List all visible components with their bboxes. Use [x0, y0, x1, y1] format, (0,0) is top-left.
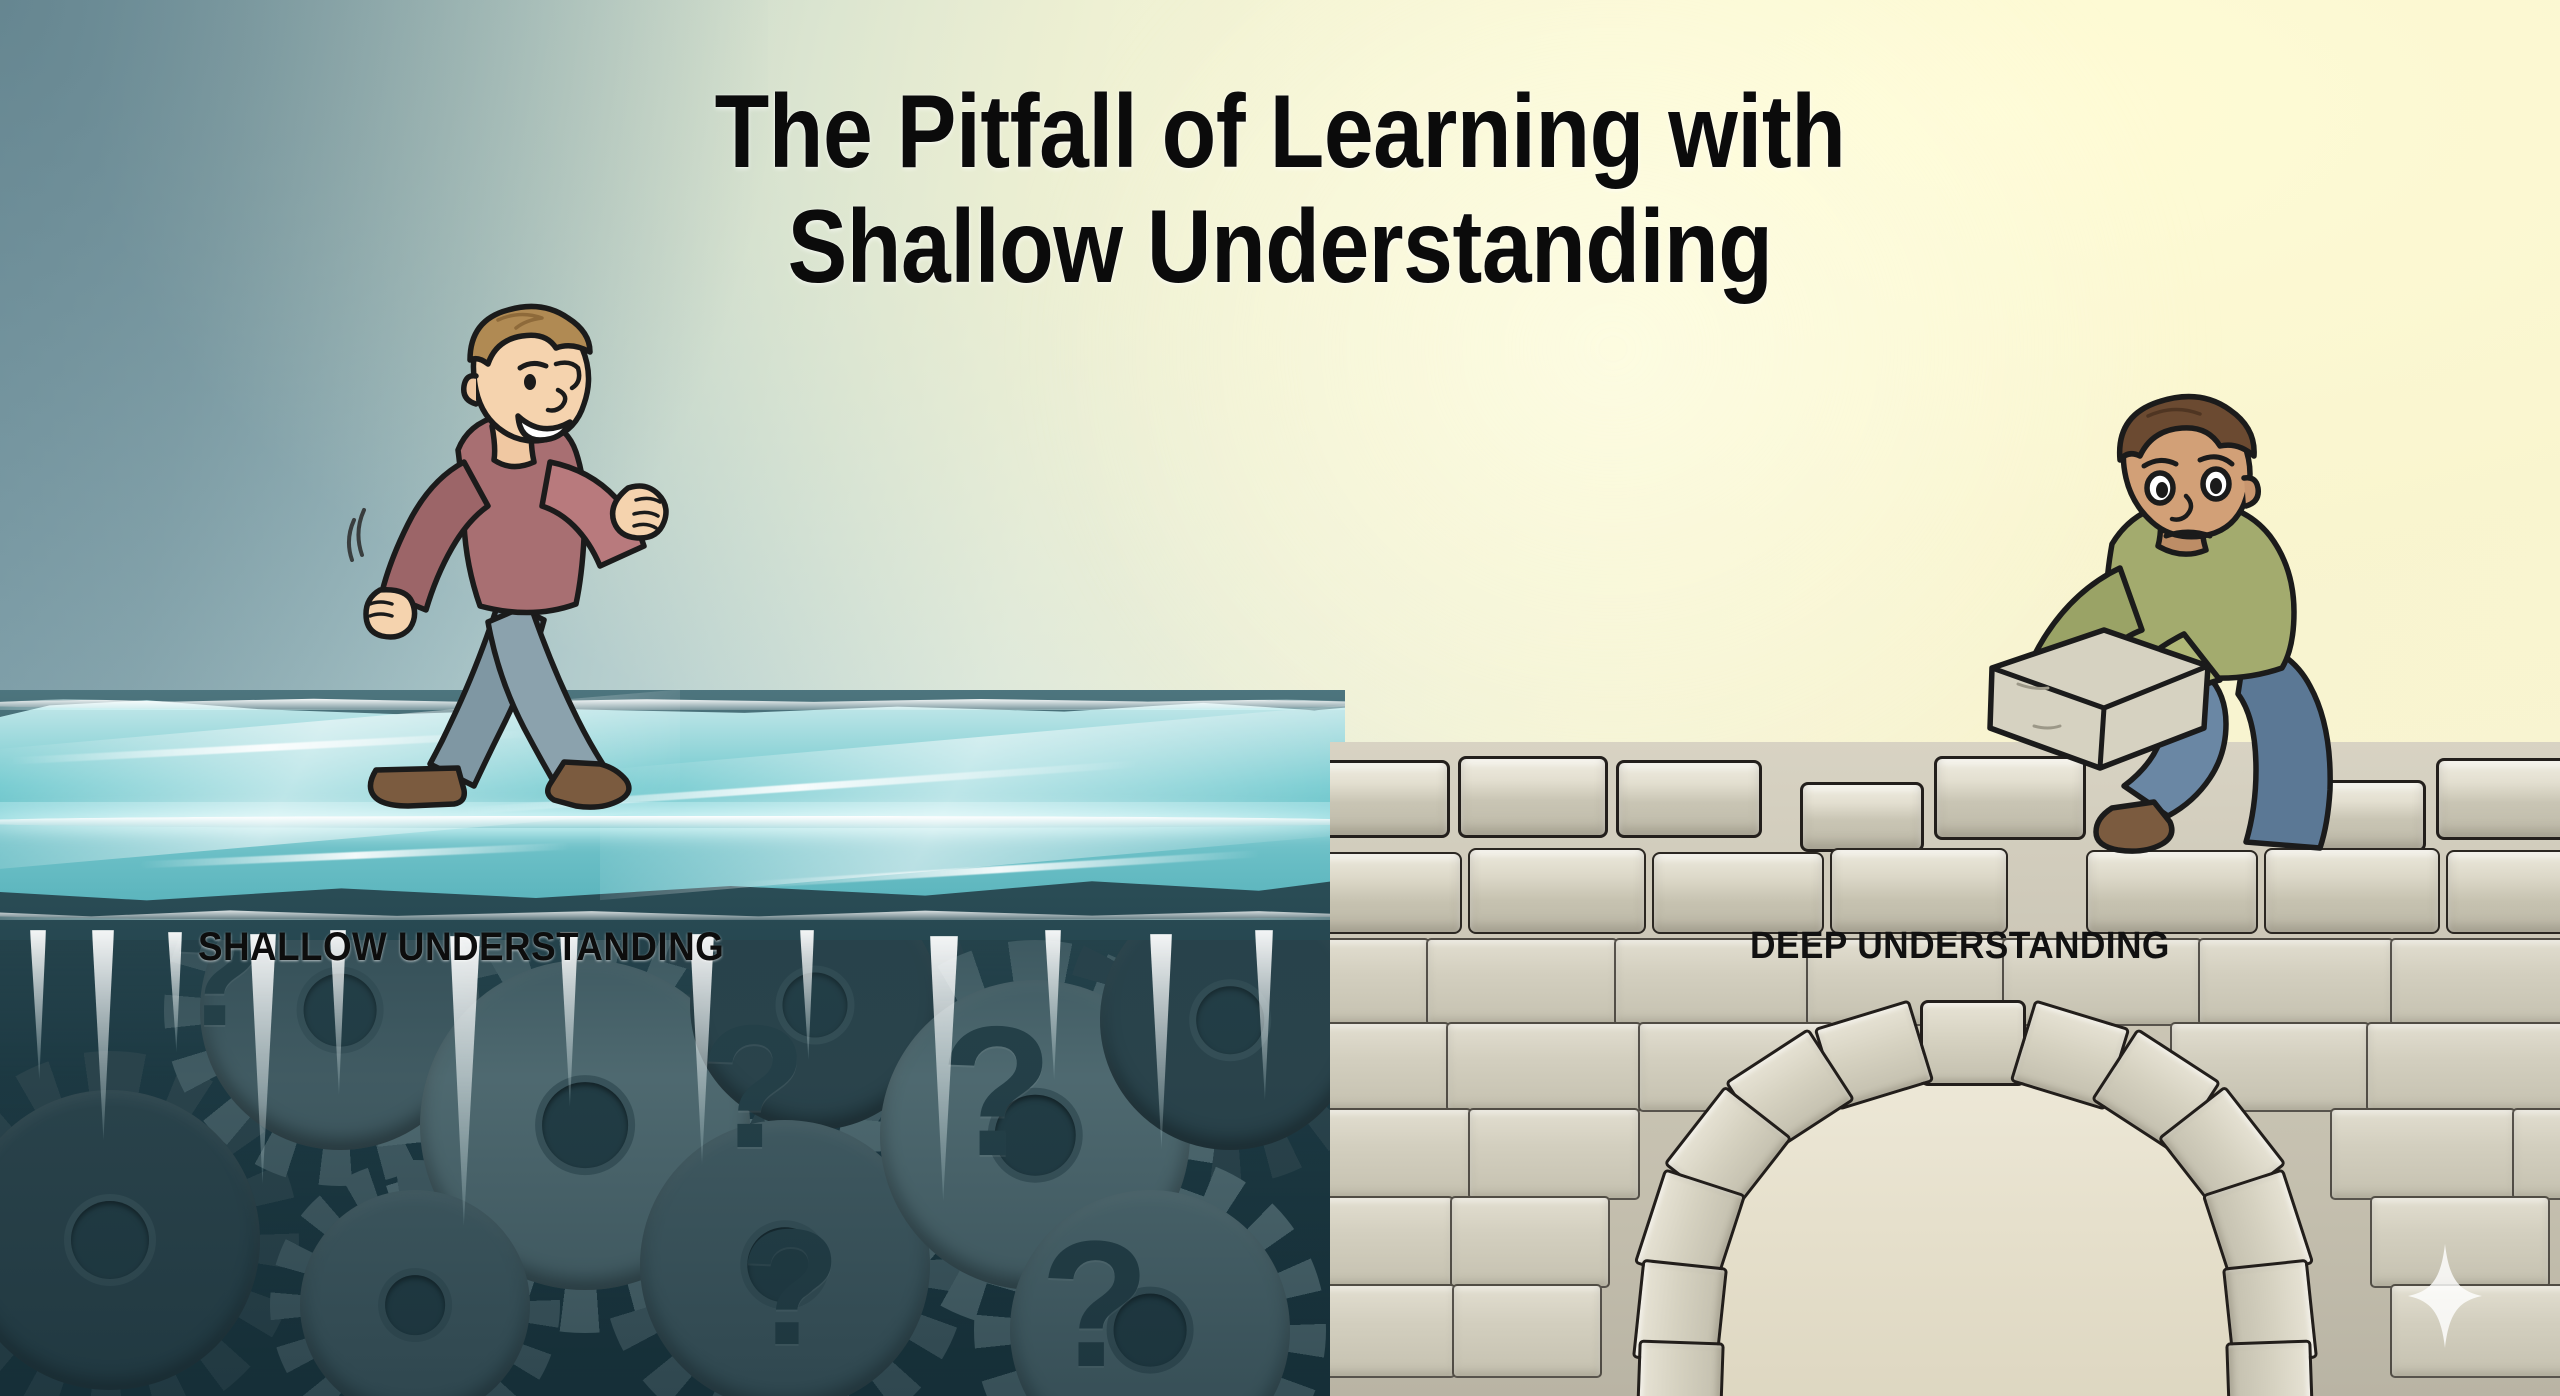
stone-block	[1330, 1196, 1454, 1288]
stone-block	[2446, 850, 2560, 934]
stone-block	[1426, 938, 1618, 1026]
stone-block	[1452, 1284, 1602, 1378]
arch-stone	[1920, 1000, 2026, 1086]
arch-stone	[2225, 1340, 2314, 1396]
stone-block	[1468, 848, 1646, 934]
arch-stone	[1635, 1340, 1724, 1396]
stone-block	[2264, 848, 2440, 934]
bricklayer-man-figure	[1978, 396, 2408, 856]
stone-block	[2086, 850, 2258, 934]
stone-block	[2436, 758, 2560, 840]
deep-understanding-label: DEEP UNDERSTANDING	[1750, 925, 2170, 968]
ice-edge-highlight	[0, 908, 1345, 920]
stone-block	[1330, 760, 1450, 838]
stone-block	[1330, 1022, 1450, 1112]
stone-block	[1330, 938, 1430, 1026]
stone-block	[2512, 1108, 2560, 1200]
stone-block	[1446, 1022, 1642, 1112]
stone-block	[1468, 1108, 1640, 1200]
shallow-understanding-label: SHALLOW UNDERSTANDING	[198, 925, 724, 970]
stone-block	[1830, 848, 2008, 934]
sparkle-star-icon	[2408, 1244, 2482, 1348]
stone-block	[1652, 852, 1824, 934]
stone-block	[1450, 1196, 1610, 1288]
stone-block	[1330, 1108, 1472, 1200]
stone-block	[2390, 938, 2560, 1026]
walking-man-figure	[352, 298, 712, 858]
gear-field: ? ? ? ? ?	[0, 940, 1345, 1396]
stone-block	[1330, 852, 1462, 934]
illustration-canvas: ? ? ? ? ?	[0, 0, 2560, 1396]
stone-block	[2198, 938, 2394, 1026]
stone-block	[1458, 756, 1608, 838]
water-shade	[0, 940, 1345, 1396]
stone-block	[1330, 1284, 1456, 1378]
stone-block	[1800, 782, 1924, 852]
stone-block	[2330, 1108, 2516, 1200]
stone-block	[2366, 1022, 2560, 1112]
stone-block	[1616, 760, 1762, 838]
